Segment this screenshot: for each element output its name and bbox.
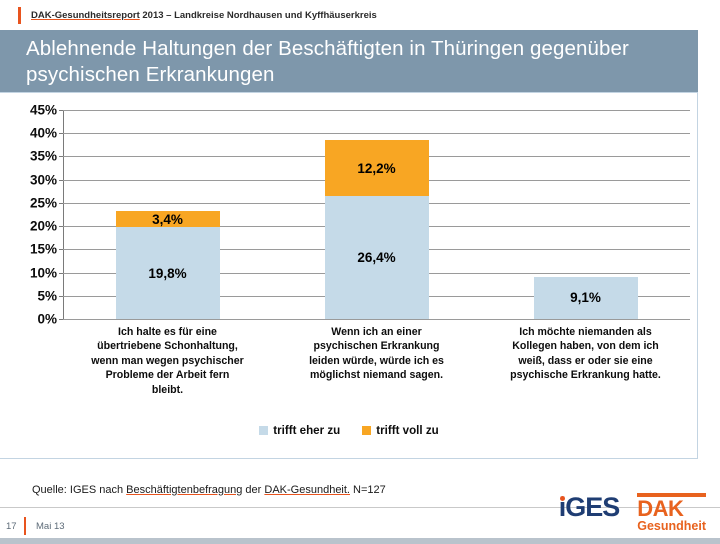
category-label: Wenn ich an einerpsychischen Erkrankungl…: [272, 325, 481, 383]
bar-segment-trifft-voll-zu[interactable]: 3,4%: [116, 211, 220, 227]
bar-segment-trifft-voll-zu[interactable]: 12,2%: [325, 140, 429, 197]
bar-value-label: 9,1%: [570, 290, 601, 305]
y-axis-tick-label: 0%: [5, 312, 57, 327]
category-label-line: Wenn ich an einer: [272, 325, 481, 339]
y-axis-tick-label: 35%: [5, 149, 57, 164]
eyebrow-text: DAK-Gesundheitsreport 2013 – Landkreise …: [31, 10, 377, 21]
category-label-line: Ich möchte niemanden als: [481, 325, 690, 339]
bar-column[interactable]: 26,4%12,2%: [325, 110, 429, 319]
category-label: Ich halte es für eineübertriebene Schonh…: [63, 325, 272, 397]
category-label-line: Probleme der Arbeit fern: [63, 368, 272, 382]
source-suffix: N=127: [350, 484, 386, 496]
y-axis-labels: 0%5%10%15%20%25%30%35%40%45%: [0, 0, 57, 544]
category-label-line: möglichst niemand sagen.: [272, 368, 481, 382]
source-prefix: Quelle: IGES nach: [32, 484, 126, 496]
category-label-line: weiß, dass er oder sie eine: [481, 354, 690, 368]
page-title: Ablehnende Haltungen der Beschäftigten i…: [26, 36, 684, 88]
page-number: 17: [6, 521, 24, 532]
legend-label: trifft voll zu: [376, 424, 438, 437]
legend-item[interactable]: trifft eher zu: [259, 424, 340, 437]
legend-swatch-icon: [259, 426, 268, 435]
source-link-dak: DAK-Gesundheit.: [264, 484, 350, 496]
y-axis-tick-label: 20%: [5, 219, 57, 234]
category-label-line: psychischen Erkrankung: [272, 339, 481, 353]
category-label-line: übertriebene Schonhaltung,: [63, 339, 272, 353]
bar-column[interactable]: 9,1%: [534, 110, 638, 319]
legend-label: trifft eher zu: [273, 424, 340, 437]
category-labels: Ich halte es für eineübertriebene Schonh…: [63, 325, 690, 405]
iges-logo: iGES: [559, 492, 620, 522]
chart-legend: trifft eher zutrifft voll zu: [0, 424, 698, 437]
title-banner: Ablehnende Haltungen der Beschäftigten i…: [0, 30, 698, 92]
dak-logo-sub: Gesundheit: [637, 520, 706, 533]
category-label-line: bleibt.: [63, 383, 272, 397]
category-label-line: wenn man wegen psychischer: [63, 354, 272, 368]
category-label: Ich möchte niemanden alsKollegen haben, …: [481, 325, 690, 383]
bar-segment-trifft-eher-zu[interactable]: 19,8%: [116, 227, 220, 319]
plot-area: 19,8%3,4%26,4%12,2%9,1%: [63, 110, 690, 319]
bar-value-label: 26,4%: [357, 250, 395, 265]
legend-item[interactable]: trifft voll zu: [362, 424, 438, 437]
bar-value-label: 3,4%: [152, 212, 183, 227]
bottom-bar: [0, 538, 720, 544]
iges-logo-text: iGES: [559, 492, 620, 522]
bar-column[interactable]: 19,8%3,4%: [116, 110, 220, 319]
eyebrow-rest: 2013 – Landkreise Nordhausen und Kyffhäu…: [140, 10, 377, 21]
bar-segment-trifft-eher-zu[interactable]: 9,1%: [534, 277, 638, 319]
bar-value-label: 12,2%: [357, 161, 395, 176]
bar-segment-trifft-eher-zu[interactable]: 26,4%: [325, 196, 429, 319]
source-link-befragung: Beschäftigtenbefragung: [126, 484, 242, 496]
footer-date: Mai 13: [36, 521, 65, 532]
category-label-line: psychische Erkrankung hatte.: [481, 368, 690, 382]
y-axis-tick-label: 30%: [5, 172, 57, 187]
y-axis-tick-label: 10%: [5, 265, 57, 280]
category-label-line: leiden würde, würde ich es: [272, 354, 481, 368]
y-axis-tick-label: 15%: [5, 242, 57, 257]
gridline: [63, 319, 690, 320]
dak-logo-main: DAK: [637, 493, 706, 520]
legend-swatch-icon: [362, 426, 371, 435]
source-mid: der: [242, 484, 264, 496]
category-label-line: Kollegen haben, von dem ich: [481, 339, 690, 353]
category-label-line: Ich halte es für eine: [63, 325, 272, 339]
y-axis-tick-label: 40%: [5, 126, 57, 141]
eyebrow-header: DAK-Gesundheitsreport 2013 – Landkreise …: [0, 0, 720, 30]
y-axis-tick-label: 5%: [5, 288, 57, 303]
source-note: Quelle: IGES nach Beschäftigtenbefragung…: [32, 484, 386, 496]
bar-value-label: 19,8%: [148, 266, 186, 281]
logo-group: iGES DAK Gesundheit: [559, 492, 706, 533]
dak-logo: DAK Gesundheit: [637, 492, 706, 533]
footer-accent-tick: [24, 517, 26, 535]
y-axis-tick-label: 45%: [5, 103, 57, 118]
y-axis-tick-label: 25%: [5, 195, 57, 210]
